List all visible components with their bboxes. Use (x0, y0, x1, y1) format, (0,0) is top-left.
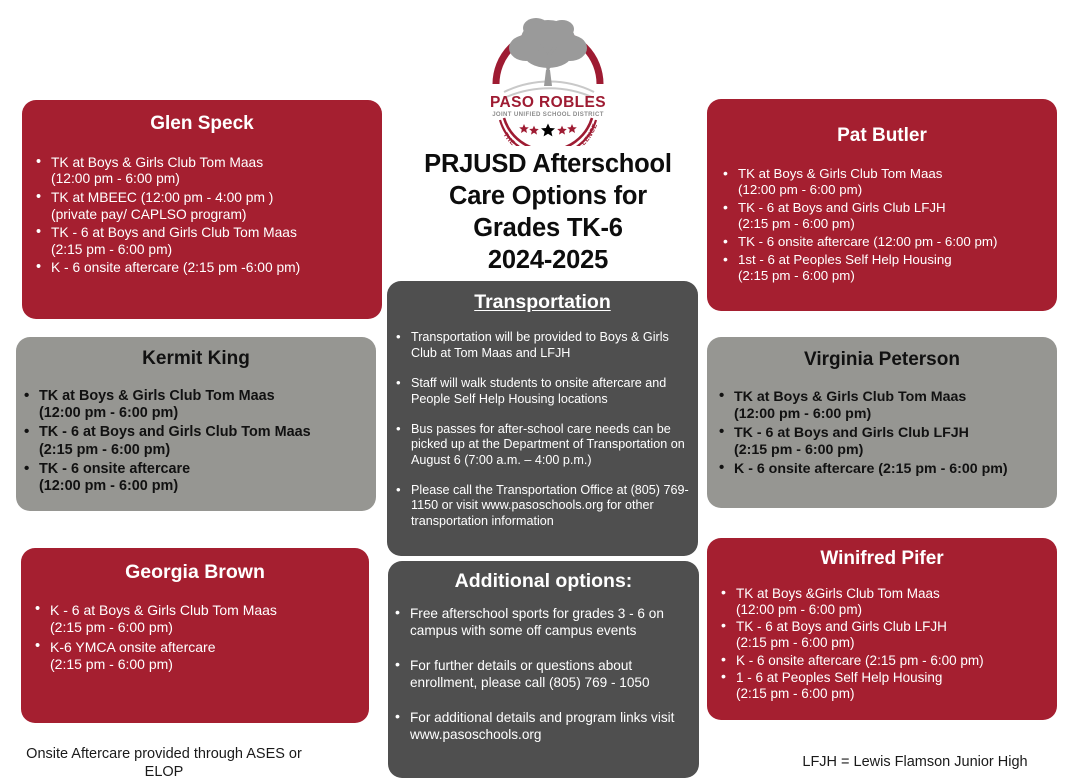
school-card-title: Kermit King (16, 349, 376, 370)
option-main: TK at Boys & Girls Club Tom Maas (734, 389, 966, 405)
list-item: For additional details and program links… (393, 710, 699, 744)
list-item: For further details or questions about e… (393, 658, 699, 692)
school-card-title: Georgia Brown (21, 562, 369, 583)
school-options-list: TK at Boys & Girls Club Tom Maas(12:00 p… (22, 388, 376, 496)
option-time: (2:15 pm - 6:00 pm) (738, 216, 1057, 232)
option-main: TK - 6 onsite aftercare (39, 461, 190, 477)
district-logo: PASO ROBLES JOINT UNIFIED SCHOOL DISTRIC… (478, 6, 618, 146)
option-main: K - 6 onsite aftercare (2:15 pm - 6:00 p… (736, 653, 984, 668)
option-time: (private pay/ CAPLSO program) (51, 207, 382, 224)
page-title: PRJUSD AfterschoolCare Options forGrades… (396, 148, 700, 277)
option-main: TK at Boys & Girls Club Tom Maas (51, 155, 263, 170)
option-time: (2:15 pm - 6:00 pm) (734, 442, 1057, 459)
school-card-georgia-brown: Georgia Brown K - 6 at Boys & Girls Club… (21, 548, 369, 723)
additional-options-card: Additional options: Free afterschool spo… (388, 561, 699, 778)
option-time: (12:00 pm - 6:00 pm) (734, 406, 1057, 423)
option-main: TK - 6 at Boys and Girls Club LFJH (736, 619, 947, 634)
school-card-title: Pat Butler (707, 126, 1057, 147)
svg-text:PASO ROBLES: PASO ROBLES (490, 94, 606, 111)
option-main: K - 6 at Boys & Girls Club Tom Maas (50, 602, 277, 618)
school-card-pat-butler: Pat Butler TK at Boys & Girls Club Tom M… (707, 99, 1057, 311)
option-time: (12:00 pm - 6:00 pm) (736, 602, 1057, 618)
paso-robles-district-seal-icon: PASO ROBLES JOINT UNIFIED SCHOOL DISTRIC… (478, 6, 618, 146)
list-item: K - 6 onsite aftercare (2:15 pm - 6:00 p… (719, 653, 1057, 669)
option-main: K - 6 onsite aftercare (2:15 pm -6:00 pm… (51, 260, 300, 275)
option-time: (2:15 pm - 6:00 pm) (738, 268, 1057, 284)
option-main: TK - 6 at Boys and Girls Club LFJH (738, 200, 946, 215)
list-item: TK - 6 at Boys and Girls Club LFJH(2:15 … (719, 619, 1057, 651)
school-card-winifred-pifer: Winifred Pifer TK at Boys &Girls Club To… (707, 538, 1057, 720)
option-main: K-6 YMCA onsite aftercare (50, 639, 215, 655)
option-time: (12:00 pm - 6:00 pm) (39, 478, 376, 495)
school-options-list: TK at Boys &Girls Club Tom Maas(12:00 pm… (719, 586, 1057, 702)
list-item: TK at MBEEC (12:00 pm - 4:00 pm )(privat… (34, 190, 382, 223)
transportation-title: Transportation (387, 292, 698, 313)
list-item: TK - 6 at Boys and Girls Club LFJH(2:15 … (717, 425, 1057, 459)
additional-options-title: Additional options: (388, 571, 699, 592)
school-options-list: TK at Boys & Girls Club Tom Maas(12:00 p… (34, 155, 382, 277)
list-item: Transportation will be provided to Boys … (394, 330, 698, 361)
option-main: 1 - 6 at Peoples Self Help Housing (736, 670, 942, 685)
list-item: TK - 6 at Boys and Girls Club Tom Maas(2… (34, 225, 382, 258)
list-item: TK - 6 at Boys and Girls Club LFJH(2:15 … (721, 200, 1057, 232)
list-item: Bus passes for after-school care needs c… (394, 422, 698, 468)
transportation-card: Transportation Transportation will be pr… (387, 281, 698, 556)
option-main: K - 6 onsite aftercare (2:15 pm - 6:00 p… (734, 461, 1008, 477)
school-options-list: K - 6 at Boys & Girls Club Tom Maas(2:15… (33, 602, 369, 672)
svg-text:JOINT UNIFIED SCHOOL DISTRICT: JOINT UNIFIED SCHOOL DISTRICT (492, 111, 604, 118)
school-card-title: Glen Speck (22, 114, 382, 135)
option-main: TK at Boys & Girls Club Tom Maas (39, 388, 275, 404)
option-time: (2:15 pm - 6:00 pm) (736, 635, 1057, 651)
option-main: TK - 6 onsite aftercare (12:00 pm - 6:00… (738, 234, 997, 249)
list-item: K - 6 at Boys & Girls Club Tom Maas(2:15… (33, 602, 369, 636)
option-time: (12:00 pm - 6:00 pm) (51, 171, 382, 188)
list-item: Staff will walk students to onsite after… (394, 376, 698, 407)
option-time: (12:00 pm - 6:00 pm) (39, 405, 376, 422)
option-time: (2:15 pm - 6:00 pm) (736, 686, 1057, 702)
footnote-onsite-aftercare: Onsite Aftercare provided through ASES o… (14, 745, 314, 781)
list-item: TK at Boys & Girls Club Tom Maas(12:00 p… (34, 155, 382, 188)
footnote-lfjh-legend: LFJH = Lewis Flamson Junior High (760, 753, 1070, 771)
additional-options-list: Free afterschool sports for grades 3 - 6… (393, 606, 699, 744)
list-item: K - 6 onsite aftercare (2:15 pm -6:00 pm… (34, 260, 382, 277)
list-item: TK - 6 onsite aftercare(12:00 pm - 6:00 … (22, 461, 376, 496)
school-card-glen-speck: Glen Speck TK at Boys & Girls Club Tom M… (22, 100, 382, 319)
list-item: TK - 6 at Boys and Girls Club Tom Maas(2… (22, 424, 376, 459)
transportation-list: Transportation will be provided to Boys … (394, 330, 698, 529)
option-main: TK at MBEEC (12:00 pm - 4:00 pm ) (51, 190, 273, 205)
option-time: (2:15 pm - 6:00 pm) (39, 442, 376, 459)
list-item: TK - 6 onsite aftercare (12:00 pm - 6:00… (721, 234, 1057, 250)
list-item: 1st - 6 at Peoples Self Help Housing(2:1… (721, 252, 1057, 284)
list-item: 1 - 6 at Peoples Self Help Housing(2:15 … (719, 670, 1057, 702)
option-main: TK - 6 at Boys and Girls Club Tom Maas (51, 225, 297, 240)
option-main: TK at Boys &Girls Club Tom Maas (736, 586, 940, 601)
school-options-list: TK at Boys & Girls Club Tom Maas(12:00 p… (717, 389, 1057, 478)
list-item: TK at Boys &Girls Club Tom Maas(12:00 pm… (719, 586, 1057, 618)
school-options-list: TK at Boys & Girls Club Tom Maas(12:00 p… (721, 166, 1057, 284)
list-item: K - 6 onsite aftercare (2:15 pm - 6:00 p… (717, 461, 1057, 478)
poster-canvas: PASO ROBLES JOINT UNIFIED SCHOOL DISTRIC… (0, 0, 1076, 778)
option-main: TK - 6 at Boys and Girls Club LFJH (734, 425, 969, 441)
list-item: K-6 YMCA onsite aftercare(2:15 pm - 6:00… (33, 639, 369, 673)
school-card-kermit-king: Kermit King TK at Boys & Girls Club Tom … (16, 337, 376, 511)
school-card-virginia-peterson: Virginia Peterson TK at Boys & Girls Clu… (707, 337, 1057, 508)
option-main: 1st - 6 at Peoples Self Help Housing (738, 252, 952, 267)
list-item: Please call the Transportation Office at… (394, 483, 698, 529)
school-card-title: Virginia Peterson (707, 350, 1057, 371)
list-item: TK at Boys & Girls Club Tom Maas(12:00 p… (721, 166, 1057, 198)
option-main: TK at Boys & Girls Club Tom Maas (738, 166, 942, 181)
option-time: (2:15 pm - 6:00 pm) (50, 619, 369, 636)
list-item: TK at Boys & Girls Club Tom Maas(12:00 p… (22, 388, 376, 423)
list-item: Free afterschool sports for grades 3 - 6… (393, 606, 699, 640)
option-time: (2:15 pm - 6:00 pm) (51, 242, 382, 259)
school-card-title: Winifred Pifer (707, 549, 1057, 570)
list-item: TK at Boys & Girls Club Tom Maas(12:00 p… (717, 389, 1057, 423)
option-time: (2:15 pm - 6:00 pm) (50, 656, 369, 673)
option-time: (12:00 pm - 6:00 pm) (738, 182, 1057, 198)
option-main: TK - 6 at Boys and Girls Club Tom Maas (39, 424, 311, 440)
